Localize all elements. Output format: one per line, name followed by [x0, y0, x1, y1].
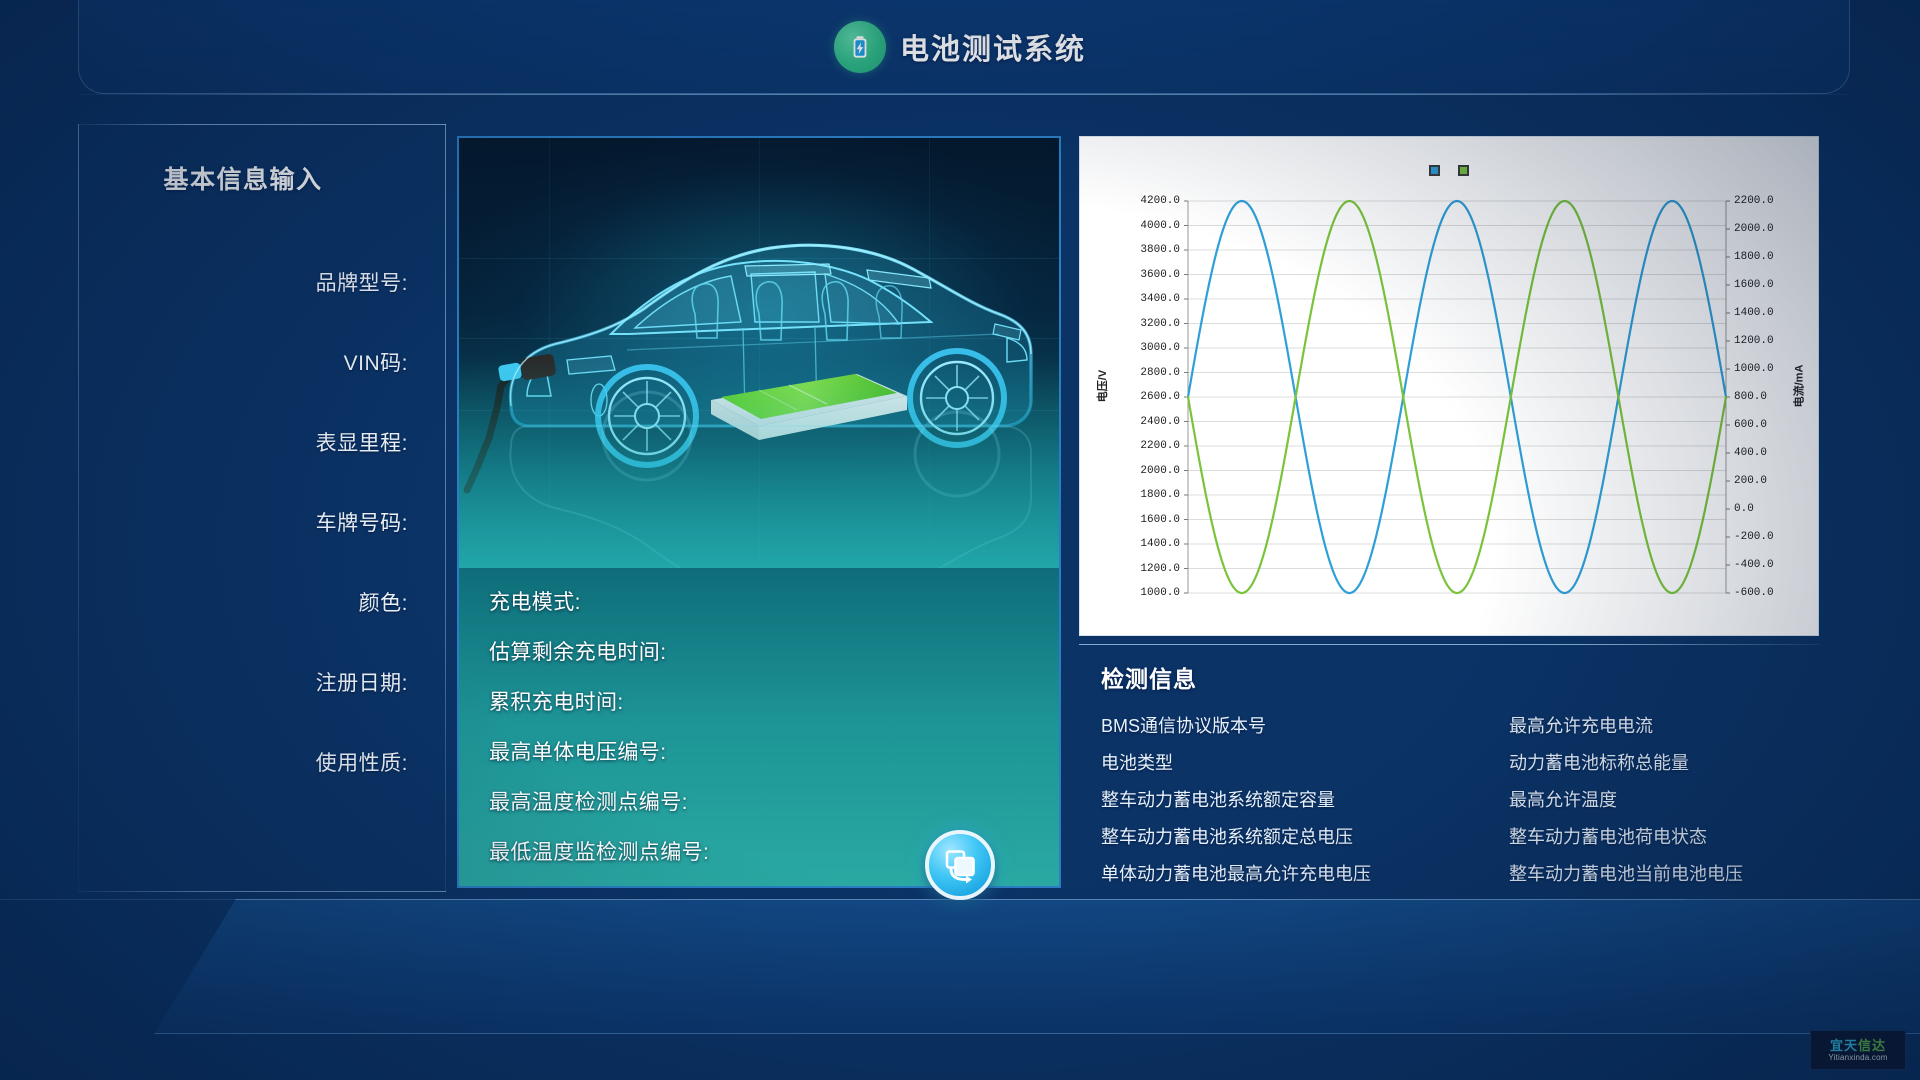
chart-canvas [1080, 137, 1820, 637]
form-row-color[interactable]: 颜色: [78, 562, 408, 642]
detection-item-max-charge-current[interactable]: 最高允许充电电流 [1509, 708, 1801, 745]
label-color: 颜色: [359, 587, 408, 617]
label-usage-type: 使用性质: [316, 747, 408, 777]
detection-item-bms-protocol-version[interactable]: BMS通信协议版本号 [1101, 708, 1509, 745]
app-header: 电池测试系统 [0, 16, 1920, 78]
battery-bolt-icon [834, 21, 886, 73]
field-max-cell-voltage-id[interactable]: 最高单体电压编号: [489, 726, 1029, 776]
detection-item-max-temperature[interactable]: 最高允许温度 [1509, 782, 1801, 819]
detection-item-nominal-total-energy[interactable]: 动力蓄电池标称总能量 [1509, 745, 1801, 782]
detection-info-title: 检测信息 [1101, 660, 1197, 694]
detection-panel-divider [1079, 644, 1819, 645]
label-vin: VIN码: [344, 347, 408, 377]
watermark-cn-part2: 信达 [1858, 1038, 1886, 1053]
label-mileage: 表显里程: [316, 427, 408, 457]
watermark-cn-part1: 宜天 [1830, 1038, 1858, 1053]
form-row-vin[interactable]: VIN码: [78, 322, 408, 402]
label-register-date: 注册日期: [316, 667, 408, 697]
basic-info-title: 基本信息输入 [78, 160, 408, 196]
platform-shape-secondary [0, 899, 1920, 1034]
page-title: 电池测试系统 [900, 26, 1086, 68]
label-max-temp-probe-id: 最高温度检测点编号: [489, 786, 688, 816]
basic-info-panel: 基本信息输入 品牌型号: VIN码: 表显里程: 车牌号码: 颜色: 注册日期:… [78, 124, 446, 892]
duplicate-refresh-icon [940, 845, 980, 885]
label-charge-mode: 充电模式: [489, 586, 581, 616]
label-brand-model: 品牌型号: [316, 267, 408, 297]
form-row-brand-model[interactable]: 品牌型号: [78, 242, 408, 322]
voltage-current-chart[interactable]: 电压/V 电流/mA 1000.01200.01400.01600.01800.… [1079, 136, 1819, 636]
vehicle-status-panel: 充电模式: 估算剩余充电时间: 累积充电时间: 最高单体电压编号: 最高温度检测… [457, 136, 1061, 888]
form-row-mileage[interactable]: 表显里程: [78, 402, 408, 482]
detection-item-rated-capacity[interactable]: 整车动力蓄电池系统额定容量 [1101, 782, 1509, 819]
watermark-cn: 宜天信达 [1830, 1038, 1886, 1053]
header-divider [78, 94, 1850, 95]
label-estimated-remaining-time: 估算剩余充电时间: [489, 636, 666, 666]
label-plate-number: 车牌号码: [316, 507, 408, 537]
panel-top-divider [78, 124, 446, 125]
form-row-plate-number[interactable]: 车牌号码: [78, 482, 408, 562]
chart-plot-area: 电压/V 电流/mA 1000.01200.01400.01600.01800.… [1080, 137, 1818, 635]
watermark-en: Yitianxinda.com [1828, 1053, 1887, 1062]
form-row-usage-type[interactable]: 使用性质: [78, 722, 408, 802]
field-max-temp-probe-id[interactable]: 最高温度检测点编号: [489, 776, 1029, 826]
panel-right-divider [445, 124, 446, 892]
field-charge-mode[interactable]: 充电模式: [489, 576, 1029, 626]
label-max-cell-voltage-id: 最高单体电压编号: [489, 736, 666, 766]
duplicate-refresh-icon-button[interactable] [925, 830, 995, 900]
vehicle-illustration [459, 138, 1059, 568]
illustration-floor-reflection [459, 358, 1059, 568]
form-row-register-date[interactable]: 注册日期: [78, 642, 408, 722]
watermark: 宜天信达 Yitianxinda.com [1810, 1030, 1906, 1070]
label-accumulated-charge-time: 累积充电时间: [489, 686, 624, 716]
detection-item-battery-type[interactable]: 电池类型 [1101, 745, 1509, 782]
field-estimated-remaining-time[interactable]: 估算剩余充电时间: [489, 626, 1029, 676]
field-accumulated-charge-time[interactable]: 累积充电时间: [489, 676, 1029, 726]
basic-info-form: 品牌型号: VIN码: 表显里程: 车牌号码: 颜色: 注册日期: 使用性质: [78, 242, 408, 802]
